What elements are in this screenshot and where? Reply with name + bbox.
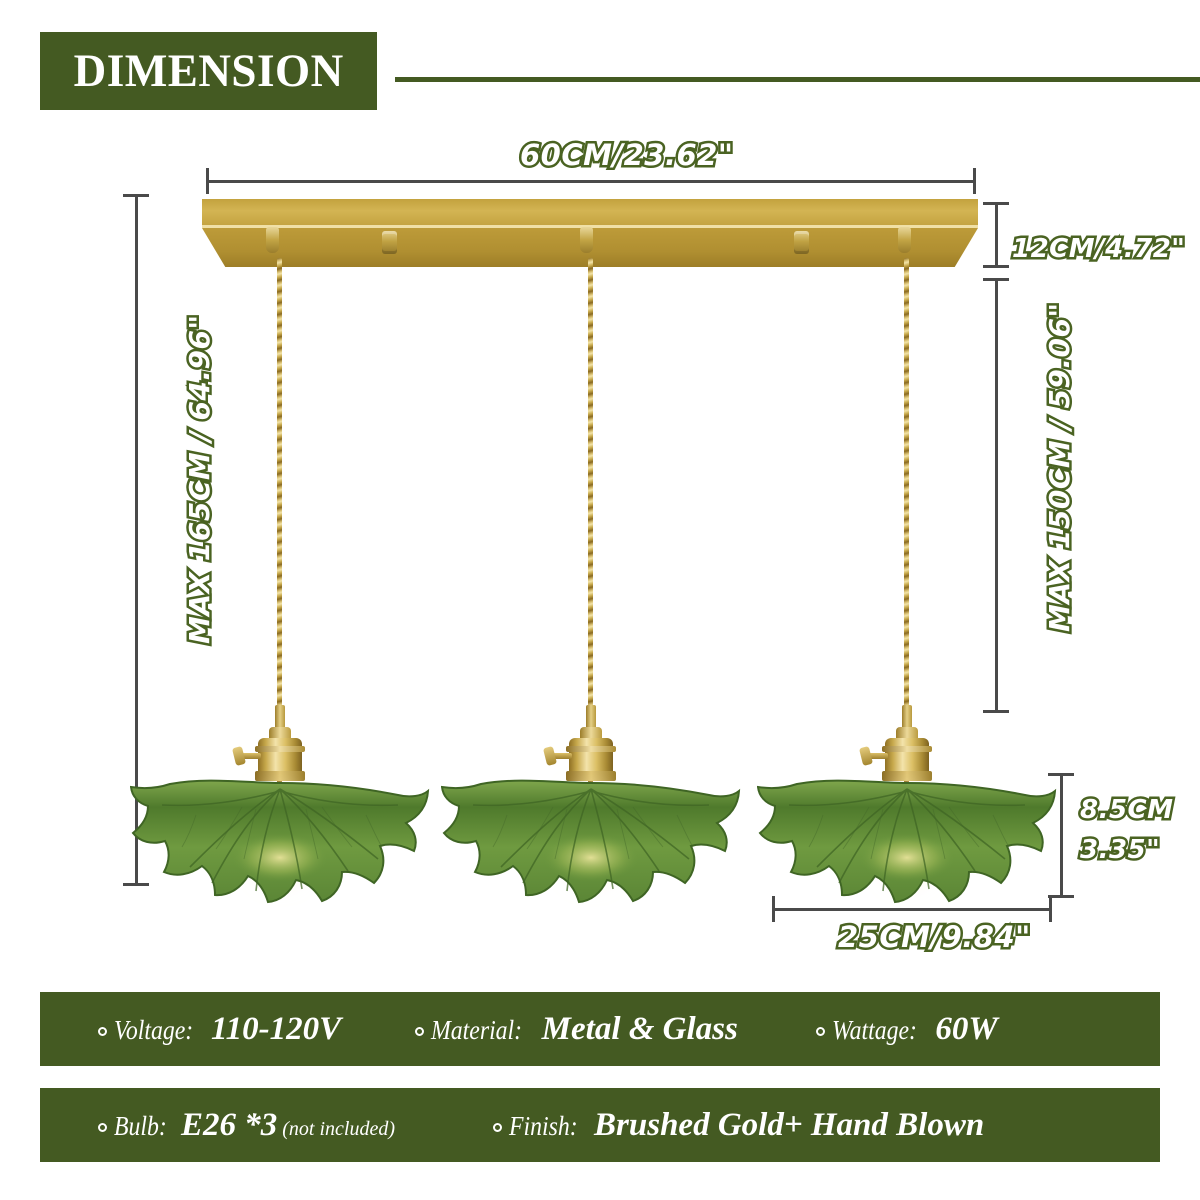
dimension-badge: DIMENSION [40,32,377,110]
spec-voltage-value: 110-120V [211,1011,341,1048]
shade-height-label-in: 3.35" [1080,835,1160,865]
canopy-height-label: 12CM/4.72" [1012,234,1185,264]
max-drop-left-tick-top [123,194,149,197]
header: DIMENSION [0,0,1200,130]
canopy-width-label: 60CM/23.62" [520,138,733,172]
header-divider [395,77,1200,82]
spec-finish: Finish: Brushed Gold+ Hand Blown [493,1107,984,1144]
socket-ring-2 [566,746,616,752]
spec-bar-secondary: Bulb: E26 *3 (not included) Finish: Brus… [40,1088,1160,1162]
canopy-height-dimension-line [995,202,998,268]
socket-ring-3 [882,746,932,752]
canopy-width-dimension-line [206,180,976,183]
socket-switch-knob-2[interactable] [543,746,557,766]
bullet-icon [98,1123,107,1132]
socket-switch-knob-3[interactable] [859,746,873,766]
socket-switch-knob-1[interactable] [232,746,246,766]
glass-leaf-shade-3 [757,779,1057,909]
canopy-height-tick-top [983,202,1009,205]
bullet-icon [816,1027,825,1036]
canopy-screw-1 [382,231,397,254]
canopy-width-tick-right [973,168,976,194]
spec-finish-key: Finish: [509,1111,578,1142]
canopy-top-face [202,199,978,225]
shade-width-tick-left [772,896,775,922]
spec-bar-primary: Voltage: 110-120V Material: Metal & Glas… [40,992,1160,1066]
max-drop-right-tick-top [983,278,1009,281]
spec-material-key: Material: [431,1015,522,1046]
cord-outlet-2 [580,227,593,253]
shade-height-tick-top [1048,773,1074,776]
spec-material-value: Metal & Glass [542,1011,738,1048]
shade-height-label-cm: 8.5CM [1080,795,1174,825]
bullet-icon [415,1027,424,1036]
cord-outlet-3 [898,227,911,253]
canopy-width-tick-left [206,168,209,194]
spec-bulb-value: E26 *3 [181,1107,277,1144]
spec-voltage-key: Voltage: [114,1015,193,1046]
spec-bulb-note: (not included) [282,1118,395,1141]
socket-ring-1 [255,746,305,752]
cord-outlet-1 [266,227,279,253]
bullet-icon [98,1027,107,1036]
pendant-lamp-3 [757,705,1057,915]
spec-wattage: Wattage: 60W [816,1011,998,1048]
spec-wattage-value: 60W [935,1011,997,1048]
max-drop-right-label: MAX 150CM / 59.06" [1043,302,1076,632]
brass-canopy-bar [202,199,978,267]
pendant-lamp-1 [130,705,430,915]
bullet-icon [493,1123,502,1132]
spec-finish-value: Brushed Gold+ Hand Blown [594,1107,984,1144]
shade-width-tick-right [1049,896,1052,922]
product-dimension-diagram: 60CM/23.62" 12CM/4.72" MAX 165CM / 64.96… [0,130,1200,970]
shade-width-label: 25CM/9.84" [838,920,1031,954]
spec-voltage: Voltage: 110-120V [98,1011,341,1048]
spec-material: Material: Metal & Glass [415,1011,738,1048]
spec-bulb: Bulb: E26 *3 (not included) [98,1107,395,1144]
page-title: DIMENSION [73,44,343,98]
max-drop-right-dimension-line [995,278,998,713]
canopy-screw-2 [794,231,809,254]
glass-leaf-shade-1 [130,779,430,909]
spec-wattage-key: Wattage: [832,1015,917,1046]
spec-bulb-key: Bulb: [114,1111,167,1142]
max-drop-left-label: MAX 165CM / 64.96" [183,314,216,644]
shade-width-dimension-line [772,908,1052,911]
canopy-height-tick-bottom [983,265,1009,268]
pendant-lamp-2 [441,705,741,915]
shade-height-dimension-line [1060,773,1063,898]
glass-leaf-shade-2 [441,779,741,909]
